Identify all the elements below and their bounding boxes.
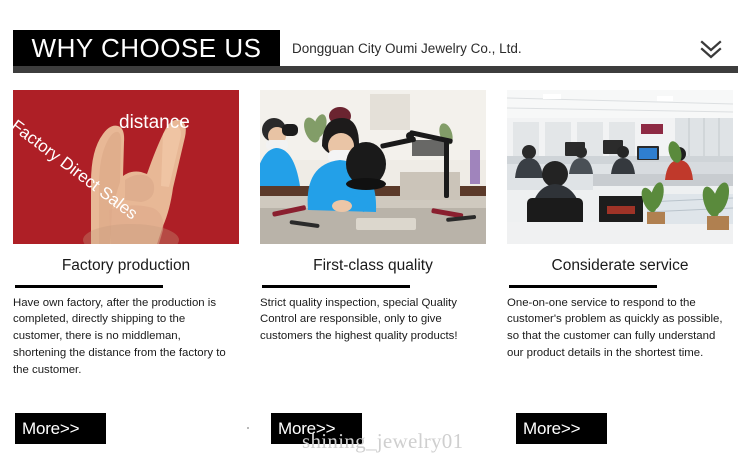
card-body-text: Strict quality inspection, special Quali… bbox=[260, 295, 480, 346]
double-chevron-down-icon[interactable] bbox=[697, 38, 725, 60]
feature-card-considerate-service: Considerate service One-on-one service t… bbox=[507, 90, 733, 379]
stray-speck bbox=[247, 427, 249, 429]
card-title-underline bbox=[509, 285, 657, 288]
card-title: First-class quality bbox=[260, 257, 486, 276]
feature-card-factory-production: Factory Direct Sales distance Factory pr… bbox=[13, 90, 239, 379]
feature-cards: Factory Direct Sales distance Factory pr… bbox=[0, 90, 750, 379]
card-title-underline bbox=[262, 285, 410, 288]
hand-on-red-background-photo: Factory Direct Sales distance bbox=[13, 90, 239, 244]
more-button-considerate-service[interactable]: More>> bbox=[516, 413, 607, 444]
card-title: Considerate service bbox=[507, 257, 733, 276]
card-body-text: One-on-one service to respond to the cus… bbox=[507, 295, 727, 363]
card-title-underline bbox=[15, 285, 163, 288]
workers-inspecting-jewelry-photo bbox=[260, 90, 486, 244]
open-plan-office-photo bbox=[507, 90, 733, 244]
more-button-factory-production[interactable]: More>> bbox=[15, 413, 106, 444]
card-title: Factory production bbox=[13, 257, 239, 276]
company-name: Dongguan City Oumi Jewelry Co., Ltd. bbox=[292, 41, 522, 56]
photo-overlay-word: distance bbox=[119, 112, 190, 134]
more-button-first-class-quality[interactable]: More>> bbox=[271, 413, 362, 444]
page-header: WHY CHOOSE US Dongguan City Oumi Jewelry… bbox=[0, 0, 750, 80]
card-body-text: Have own factory, after the production i… bbox=[13, 295, 233, 379]
why-choose-us-badge: WHY CHOOSE US bbox=[13, 30, 280, 66]
feature-card-first-class-quality: First-class quality Strict quality inspe… bbox=[260, 90, 486, 379]
page-title: WHY CHOOSE US bbox=[32, 35, 262, 61]
header-divider bbox=[13, 66, 738, 73]
